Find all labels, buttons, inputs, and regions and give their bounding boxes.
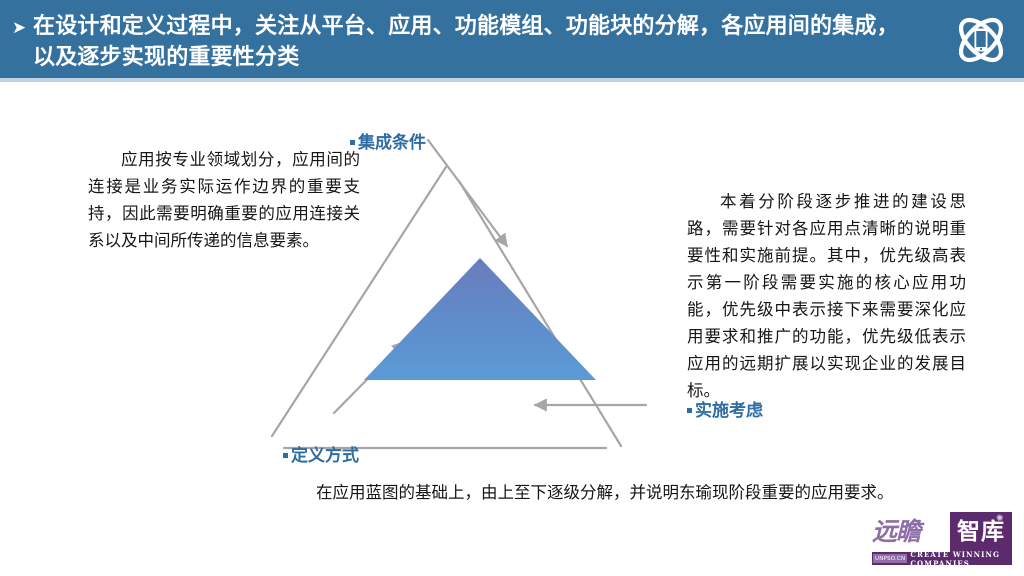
bullet-square-icon — [350, 140, 355, 145]
vertex-label-text: 实施考虑 — [695, 401, 763, 421]
left-description-text: 应用按专业领域划分，应用间的连接是业务实际运作边界的重要支持，因此需要明确重要的… — [88, 146, 360, 254]
page-title: 在设计和定义过程中，关注从平台、应用、功能模组、功能块的分解，各应用间的集成，以… — [33, 11, 913, 73]
header-underline-rule — [0, 78, 1024, 82]
inner-filled-triangle — [364, 258, 596, 380]
vertex-label-text: 定义方式 — [291, 446, 359, 466]
arrow-top-to-right — [428, 140, 507, 246]
logo-chinese-primary: 远瞻 — [872, 512, 950, 552]
title-bullet-icon: ➤ — [10, 17, 28, 39]
right-description-text: 本着分阶段逐步推进的建设思路，需要针对各应用点清晰的说明重要性和实施前提。其中，… — [687, 188, 966, 404]
bottom-description-text: 在应用蓝图的基础上，由上至下逐级分解，并说明东瑜现阶段重要的应用要求。 — [283, 479, 923, 506]
logo-tagline-text: CREATE WINNING COMPANIES — [910, 550, 1012, 568]
bullet-square-icon — [283, 453, 288, 458]
vertex-label-definition-method: 定义方式 — [283, 441, 359, 466]
logo-mark: 远瞻 智库 ✺ — [872, 512, 1012, 552]
logo-tagline-bar: UNPSO.CN CREATE WINNING COMPANIES — [872, 552, 1012, 565]
company-logo: 远瞻 智库 ✺ UNPSO.CN CREATE WINNING COMPANIE… — [872, 512, 1012, 568]
logo-sparkle-icon: ✺ — [996, 515, 1004, 524]
atom-tablet-icon — [952, 11, 1010, 69]
bullet-square-icon — [687, 408, 692, 413]
logo-domain-label: UNPSO.CN — [873, 554, 907, 563]
vertex-label-integration-conditions: 集成条件 — [350, 128, 426, 153]
vertex-label-text: 集成条件 — [358, 133, 426, 153]
